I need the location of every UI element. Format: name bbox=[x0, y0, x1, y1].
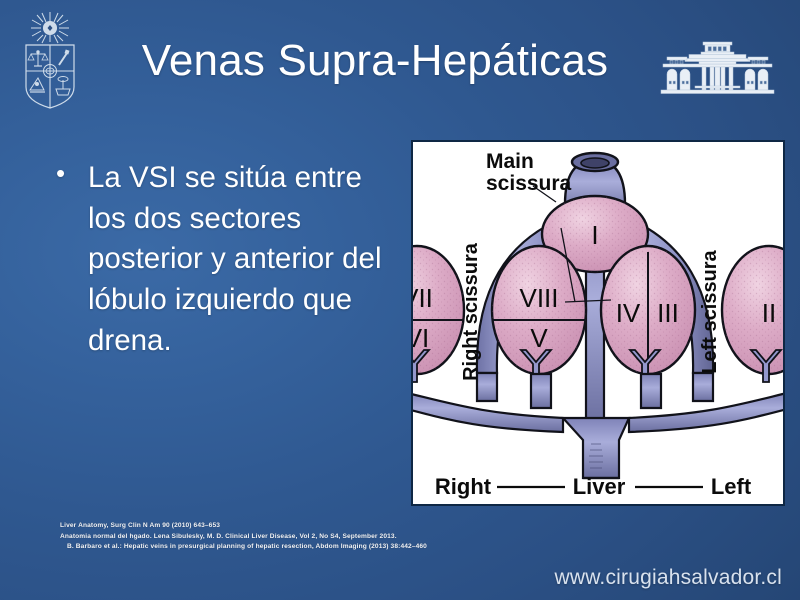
presentation-slide: Venas Supra-Hepáticas bbox=[0, 0, 800, 600]
website-url: www.cirugiahsalvador.cl bbox=[554, 566, 782, 590]
page-title: Venas Supra-Hepáticas bbox=[95, 37, 655, 85]
hospital-building-logo bbox=[655, 40, 780, 98]
segment-label-VIII: VIII bbox=[519, 283, 558, 313]
building-facade-icon bbox=[655, 40, 780, 98]
label-main-scissura-line2: scissura bbox=[486, 172, 572, 195]
label-left-scissura: Left scissura bbox=[699, 249, 721, 373]
segment-label-IV: IV bbox=[616, 298, 641, 328]
label-liver: Liver bbox=[573, 474, 626, 499]
references-block: Liver Anatomy, Surg Clin N Am 90 (2010) … bbox=[60, 521, 440, 553]
segment-label-V: V bbox=[530, 323, 548, 353]
segment-label-III: III bbox=[657, 298, 679, 328]
reference-line-3: B. Barbaro et al.: Hepatic veins in pres… bbox=[60, 542, 440, 553]
label-main-scissura-line1: Main bbox=[486, 150, 534, 173]
coat-of-arms-icon bbox=[18, 9, 82, 111]
segment-label-VII: VII bbox=[413, 283, 433, 313]
label-left: Left bbox=[711, 474, 752, 499]
segment-label-I: I bbox=[591, 220, 598, 250]
liver-segments-diagram: Main scissura Right scissura Left scissu… bbox=[411, 140, 785, 506]
reference-line-1: Liver Anatomy, Surg Clin N Am 90 (2010) … bbox=[60, 521, 440, 532]
hepatic-veins-illustration: Main scissura Right scissura Left scissu… bbox=[413, 142, 783, 504]
bullet-list: La VSI se sitúa entre los dos sectores p… bbox=[48, 158, 393, 362]
label-right: Right bbox=[435, 474, 492, 499]
segment-label-II: II bbox=[762, 298, 776, 328]
segment-label-VI: VI bbox=[413, 323, 429, 353]
list-item: La VSI se sitúa entre los dos sectores p… bbox=[48, 158, 393, 362]
universidad-de-chile-logo bbox=[18, 9, 82, 111]
label-right-scissura: Right scissura bbox=[460, 242, 482, 381]
reference-line-2: Anatomia normal del hgado. Lena Sibulesk… bbox=[60, 532, 440, 543]
